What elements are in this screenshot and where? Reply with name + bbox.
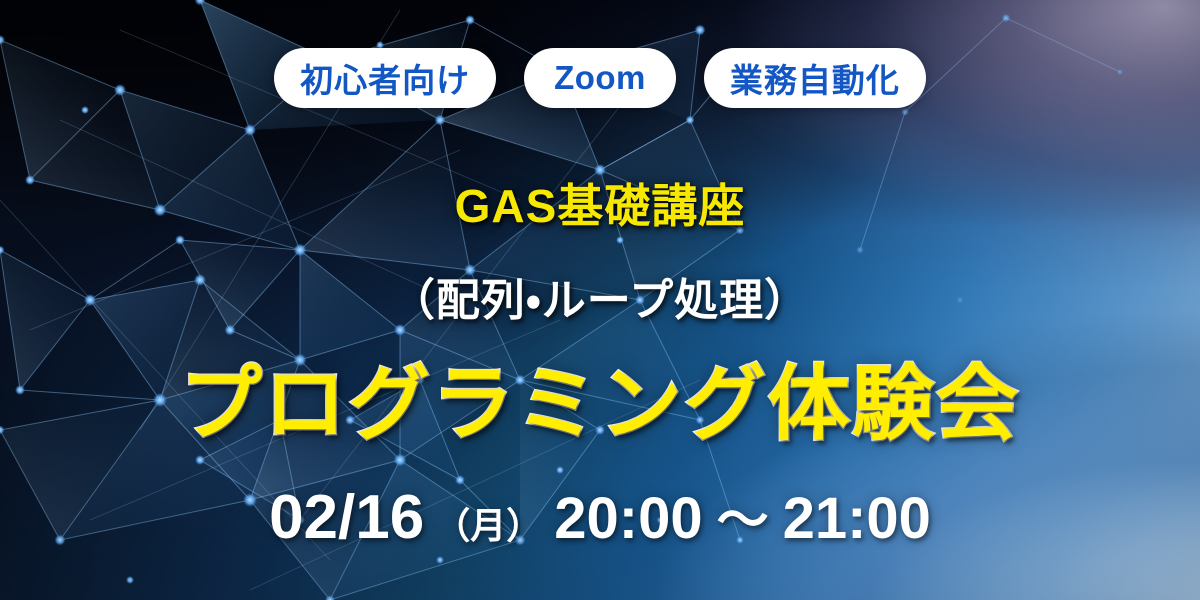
main-heading: プログラミング体験会 xyxy=(180,362,1020,448)
banner-content: 初心者向け Zoom 業務自動化 GAS基礎講座 （配列・ループ処理） プログラ… xyxy=(0,0,1200,600)
badge-automation[interactable]: 業務自動化 xyxy=(704,48,926,108)
schedule-weekday: （月） xyxy=(434,497,542,549)
course-title: GAS基礎講座 xyxy=(455,170,746,236)
schedule-end: 21:00 xyxy=(783,485,931,552)
course-subtitle: （配列・ループ処理） xyxy=(391,264,809,328)
event-banner: 初心者向け Zoom 業務自動化 GAS基礎講座 （配列・ループ処理） プログラ… xyxy=(0,0,1200,600)
schedule-separator: 〜 xyxy=(717,478,769,553)
badge-row: 初心者向け Zoom 業務自動化 xyxy=(274,48,926,108)
badge-zoom[interactable]: Zoom xyxy=(524,48,676,108)
schedule-start: 20:00 xyxy=(554,485,702,552)
badge-beginner[interactable]: 初心者向け xyxy=(274,48,496,108)
schedule-date: 02/16 xyxy=(269,482,424,553)
schedule: 02/16 （月） 20:00 〜 21:00 xyxy=(269,478,931,553)
